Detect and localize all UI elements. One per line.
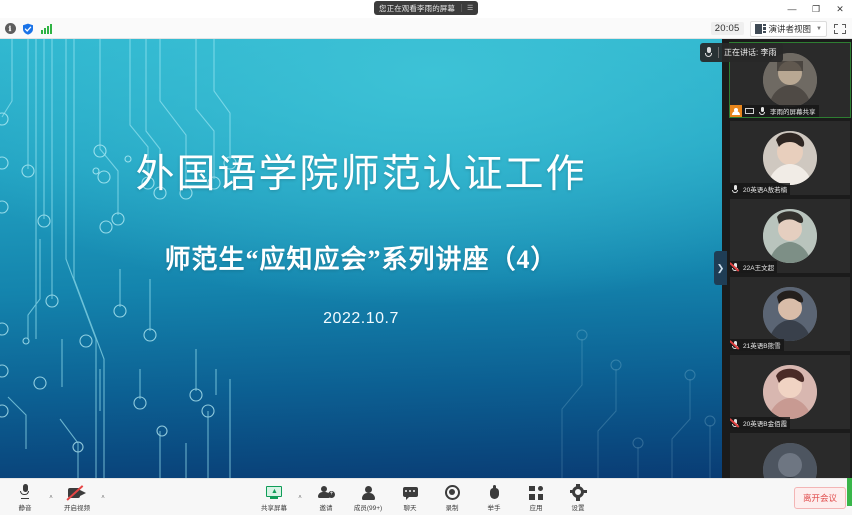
slide-subtitle: 师范生“应知应会”系列讲座（4） [164, 239, 557, 276]
presentation-slide: 外国语学院师范认证工作 师范生“应知应会”系列讲座（4） 2022.10.7 [0, 39, 722, 478]
participants-icon [361, 484, 375, 500]
divider [718, 47, 719, 58]
participants-button[interactable]: 成员(99+) [347, 480, 389, 515]
view-mode-selector[interactable]: 演讲者视图 ▼ [750, 21, 827, 37]
slide-title: 外国语学院师范认证工作 [135, 143, 586, 199]
share-screen-label: 共享屏幕 [261, 502, 287, 512]
raise-hand-icon [488, 484, 500, 500]
participants-label: 成员(99+) [354, 502, 382, 512]
signal-bars-icon[interactable] [40, 23, 52, 35]
participant-tile[interactable]: 20英语A敖若楠 [730, 121, 850, 195]
slide-text-block: 外国语学院师范认证工作 师范生“应知应会”系列讲座（4） 2022.10.7 [0, 39, 722, 478]
meeting-statusbar: ℹ 20:05 演讲者视图 ▼ [0, 18, 852, 39]
avatar [763, 365, 817, 419]
meeting-window: — ❐ ✕ 您正在观看李雨的屏幕 ☰ ℹ 20:05 [0, 0, 852, 515]
fullscreen-icon[interactable] [833, 22, 847, 36]
minimize-button[interactable]: — [780, 0, 804, 18]
record-icon [445, 484, 460, 500]
info-icon[interactable]: ℹ [4, 23, 16, 35]
microphone-icon [730, 183, 741, 195]
participant-badge: 22A王文超 [730, 261, 777, 273]
chat-button[interactable]: 聊天 [389, 480, 431, 515]
chat-label: 聊天 [404, 502, 417, 512]
active-speaker-toast: 正在讲话: 李雨 [700, 43, 783, 62]
host-icon [730, 105, 742, 117]
microphone-muted-icon [730, 339, 741, 351]
share-screen-button[interactable]: ▲ 共享屏幕 [253, 480, 295, 515]
share-options-menu-icon[interactable]: ☰ [461, 4, 473, 12]
invite-button[interactable]: + 邀请 [305, 480, 347, 515]
invite-label: 邀请 [320, 502, 333, 512]
participant-badge: 李雨的屏幕共享 [730, 105, 819, 117]
participant-badge: 20英语A敖若楠 [730, 183, 790, 195]
participant-filmstrip[interactable]: 李雨的屏幕共享 20英语A敖若楠 [722, 39, 852, 478]
primary-controls: ▲ 共享屏幕 ˄ + 邀请 成员(99+) [0, 479, 852, 515]
avatar [763, 287, 817, 341]
viewing-share-text: 您正在观看李雨的屏幕 [379, 3, 455, 14]
share-screen-icon: ▲ [266, 484, 282, 500]
participant-name: 20英语A敖若楠 [743, 184, 787, 194]
collapse-sidebar-handle[interactable]: ❯ [714, 251, 727, 285]
status-icons: ℹ [4, 18, 52, 39]
close-button[interactable]: ✕ [828, 0, 852, 18]
info-glyph: ℹ [5, 23, 16, 34]
microphone-icon [704, 46, 713, 59]
raise-hand-label: 举手 [488, 502, 501, 512]
slide-date: 2022.10.7 [323, 310, 399, 328]
record-button[interactable]: 录制 [431, 480, 473, 515]
leave-meeting-button[interactable]: 离开会议 [794, 487, 846, 509]
apps-label: 应用 [530, 502, 543, 512]
viewing-share-notice: 您正在观看李雨的屏幕 ☰ [374, 1, 478, 15]
participant-tile[interactable]: 20英语B金佰霞 [730, 355, 850, 429]
statusbar-right-controls: 20:05 演讲者视图 ▼ [711, 18, 847, 39]
settings-label: 设置 [572, 502, 585, 512]
chevron-down-icon: ▼ [814, 26, 822, 32]
participant-name: 20英语B金佰霞 [743, 418, 787, 428]
restore-button[interactable]: ❐ [804, 0, 828, 18]
participant-name: 22A王文超 [743, 262, 774, 272]
participant-tile[interactable]: 21英语B熊雪 [730, 277, 850, 351]
apps-grid-icon [529, 484, 543, 500]
microphone-icon [757, 105, 768, 117]
shield-icon[interactable] [22, 23, 34, 35]
participant-badge: 20英语B金佰霞 [730, 417, 790, 429]
speaker-view-icon [755, 24, 766, 34]
record-label: 录制 [446, 502, 459, 512]
window-controls: — ❐ ✕ [780, 0, 852, 18]
shared-screen-stage[interactable]: 外国语学院师范认证工作 师范生“应知应会”系列讲座（4） 2022.10.7 [0, 39, 722, 478]
active-speaker-label: 正在讲话: 李雨 [724, 47, 776, 58]
avatar [763, 443, 817, 478]
screen-share-icon [744, 105, 755, 117]
avatar [763, 209, 817, 263]
avatar [763, 131, 817, 185]
meeting-controlbar: 静音 ˄ 开启视频 ˄ ▲ 共享屏幕 ˄ + [0, 478, 852, 515]
settings-button[interactable]: 设置 [557, 480, 599, 515]
microphone-muted-icon [730, 417, 741, 429]
share-options-chevron-icon[interactable]: ˄ [295, 480, 305, 515]
scrollbar-thumb[interactable] [847, 478, 852, 506]
microphone-muted-icon [730, 261, 741, 273]
gear-icon [571, 484, 586, 500]
meeting-clock: 20:05 [711, 22, 744, 35]
participant-tile[interactable]: 22A王文超 [730, 199, 850, 273]
view-mode-label: 演讲者视图 [769, 23, 812, 35]
leave-controls: 离开会议 [794, 479, 846, 515]
participant-name: 21英语B熊雪 [743, 340, 781, 350]
participant-name: 李雨的屏幕共享 [770, 106, 816, 116]
invite-user-icon: + [318, 484, 334, 500]
participant-badge: 21英语B熊雪 [730, 339, 784, 351]
participant-tile[interactable] [730, 433, 850, 478]
chat-bubble-icon [403, 484, 418, 500]
apps-button[interactable]: 应用 [515, 480, 557, 515]
raise-hand-button[interactable]: 举手 [473, 480, 515, 515]
